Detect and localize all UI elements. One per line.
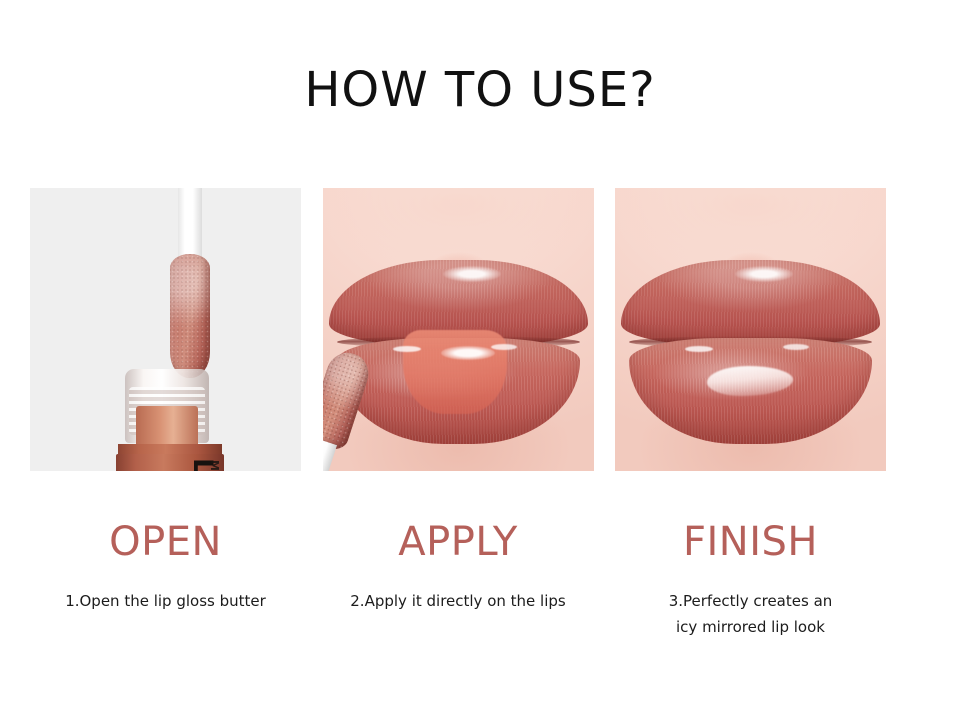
gloss-speck-right xyxy=(783,344,809,350)
tube-label-side-text: MIRROR xyxy=(203,460,221,471)
lips-illustration xyxy=(615,188,886,471)
step-caption-open: 1.Open the lip gloss butter xyxy=(30,588,301,614)
steps-image-row: LIP G MIRROR GLOSS BUTTER xyxy=(30,188,886,471)
applicator-tip-icon xyxy=(170,254,210,378)
tube-body: LIP G MIRROR GLOSS BUTTER xyxy=(116,454,224,471)
step-title-apply: APPLY xyxy=(323,518,594,566)
step-image-finish xyxy=(615,188,886,471)
upper-lip-highlight xyxy=(443,266,501,282)
gloss-speck-left xyxy=(393,346,421,352)
lips-illustration xyxy=(323,188,594,471)
applied-gloss-patch xyxy=(403,330,507,414)
page-title: HOW TO USE? xyxy=(0,62,960,118)
step-title-open: OPEN xyxy=(30,518,301,566)
step-title-finish: FINISH xyxy=(615,518,886,566)
gloss-shine-highlight xyxy=(441,346,495,360)
step-column-apply: APPLY 2.Apply it directly on the lips xyxy=(323,518,594,640)
step-caption-finish-line-2: icy mirrored lip look xyxy=(615,614,886,640)
gloss-speck-right xyxy=(491,344,517,350)
step-caption-finish: 3.Perfectly creates an icy mirrored lip … xyxy=(615,588,886,640)
step-image-open: LIP G MIRROR GLOSS BUTTER xyxy=(30,188,301,471)
step-column-open: OPEN 1.Open the lip gloss butter xyxy=(30,518,301,640)
step-caption-finish-line-1: 3.Perfectly creates an xyxy=(615,588,886,614)
step-column-finish: FINISH 3.Perfectly creates an icy mirror… xyxy=(615,518,886,640)
step-caption-apply: 2.Apply it directly on the lips xyxy=(323,588,594,614)
gloss-speck-left xyxy=(685,346,713,352)
upper-lip-highlight xyxy=(735,266,793,282)
steps-text-row: OPEN 1.Open the lip gloss butter APPLY 2… xyxy=(30,518,886,640)
step-image-apply xyxy=(323,188,594,471)
